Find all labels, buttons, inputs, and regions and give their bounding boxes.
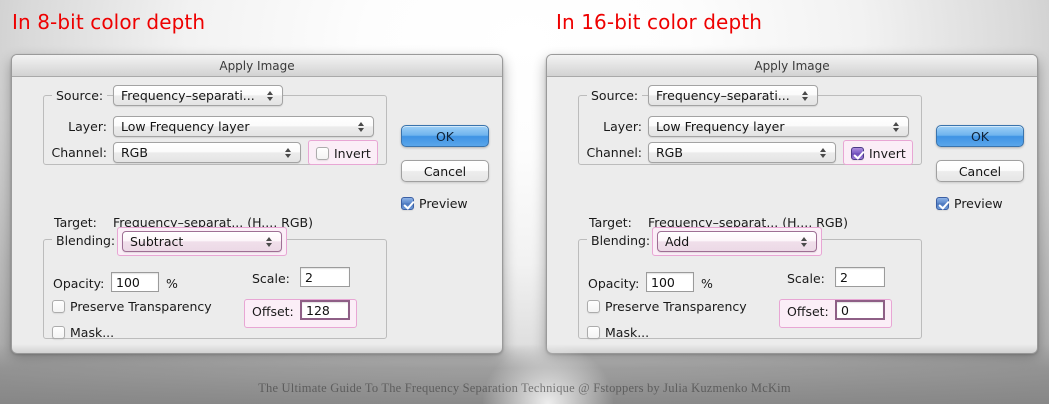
blending-dropdown[interactable]: Subtract bbox=[122, 231, 282, 252]
cancel-button-label: Cancel bbox=[424, 164, 466, 179]
chevron-updown-icon bbox=[353, 122, 369, 132]
apply-image-dialog-16bit: Apply Image Source: Frequency–separati..… bbox=[546, 54, 1038, 354]
cancel-button[interactable]: Cancel bbox=[936, 160, 1024, 182]
scale-label: Scale: bbox=[252, 271, 290, 286]
invert-checkbox[interactable] bbox=[316, 147, 329, 160]
source-label: Source: bbox=[52, 88, 107, 103]
mask-checkbox[interactable] bbox=[52, 326, 65, 339]
channel-dropdown-value: RGB bbox=[114, 145, 280, 160]
preserve-transparency-checkbox[interactable] bbox=[52, 300, 65, 313]
layer-label: Layer: bbox=[567, 119, 642, 134]
opacity-input[interactable]: 100 bbox=[111, 272, 159, 292]
invert-label: Invert bbox=[334, 146, 371, 161]
percent-sign: % bbox=[701, 276, 713, 291]
target-label: Target: bbox=[54, 215, 97, 230]
mask-label: Mask... bbox=[605, 325, 649, 340]
mask-checkbox[interactable] bbox=[587, 326, 600, 339]
source-dropdown[interactable]: Frequency–separati... bbox=[648, 85, 818, 106]
preserve-transparency-checkbox-row[interactable]: Preserve Transparency bbox=[587, 299, 747, 314]
layer-dropdown-value: Low Frequency layer bbox=[649, 119, 888, 134]
opacity-input[interactable]: 100 bbox=[646, 272, 694, 292]
dialog-titlebar: Apply Image bbox=[547, 55, 1037, 77]
preserve-transparency-label: Preserve Transparency bbox=[605, 299, 747, 314]
preserve-transparency-checkbox-row[interactable]: Preserve Transparency bbox=[52, 299, 212, 314]
source-dropdown-value: Frequency–separati... bbox=[114, 88, 262, 103]
source-label: Source: bbox=[587, 88, 642, 103]
chevron-updown-icon bbox=[280, 148, 296, 158]
opacity-input-value: 100 bbox=[116, 275, 140, 290]
chevron-updown-icon bbox=[888, 122, 904, 132]
source-dropdown[interactable]: Frequency–separati... bbox=[113, 85, 283, 106]
cancel-button-label: Cancel bbox=[959, 164, 1001, 179]
blending-label: Blending: bbox=[587, 233, 654, 248]
percent-sign: % bbox=[166, 276, 178, 291]
offset-label: Offset: bbox=[787, 304, 829, 319]
dialog-body: Source: Frequency–separati... Layer: Low… bbox=[547, 77, 1037, 354]
chevron-updown-icon bbox=[815, 148, 831, 158]
ok-button-label: OK bbox=[971, 129, 989, 144]
opacity-label: Opacity: bbox=[588, 276, 639, 291]
preserve-transparency-checkbox[interactable] bbox=[587, 300, 600, 313]
channel-dropdown[interactable]: RGB bbox=[113, 142, 301, 163]
dialog-title: Apply Image bbox=[754, 59, 829, 73]
chevron-updown-icon bbox=[262, 91, 278, 101]
offset-input[interactable]: 128 bbox=[300, 300, 350, 320]
offset-input-value: 128 bbox=[306, 303, 330, 318]
preview-checkbox[interactable] bbox=[936, 197, 949, 210]
scale-input-value: 2 bbox=[305, 270, 313, 285]
chevron-updown-icon bbox=[796, 237, 812, 247]
layer-dropdown-value: Low Frequency layer bbox=[114, 119, 353, 134]
caption: The Ultimate Guide To The Frequency Sepa… bbox=[0, 381, 1049, 396]
preview-label: Preview bbox=[419, 196, 468, 211]
target-label: Target: bbox=[589, 215, 632, 230]
blending-dropdown[interactable]: Add bbox=[657, 231, 817, 252]
mask-label: Mask... bbox=[70, 325, 114, 340]
channel-label: Channel: bbox=[32, 145, 107, 160]
invert-label: Invert bbox=[869, 146, 906, 161]
scale-input[interactable]: 2 bbox=[835, 267, 885, 287]
dialog-title: Apply Image bbox=[219, 59, 294, 73]
channel-label: Channel: bbox=[567, 145, 642, 160]
preview-checkbox-row[interactable]: Preview bbox=[401, 196, 468, 211]
scale-label: Scale: bbox=[787, 271, 825, 286]
preview-label: Preview bbox=[954, 196, 1003, 211]
ok-button[interactable]: OK bbox=[401, 125, 489, 147]
chevron-updown-icon bbox=[261, 237, 277, 247]
heading-16bit: In 16-bit color depth bbox=[556, 10, 762, 34]
layer-dropdown[interactable]: Low Frequency layer bbox=[648, 116, 909, 137]
layer-label: Layer: bbox=[32, 119, 107, 134]
dialog-titlebar: Apply Image bbox=[12, 55, 502, 77]
invert-checkbox[interactable] bbox=[851, 147, 864, 160]
scale-input-value: 2 bbox=[840, 270, 848, 285]
preview-checkbox-row[interactable]: Preview bbox=[936, 196, 1003, 211]
source-dropdown-value: Frequency–separati... bbox=[649, 88, 797, 103]
channel-dropdown[interactable]: RGB bbox=[648, 142, 836, 163]
offset-input-value: 0 bbox=[841, 303, 849, 318]
mask-checkbox-row[interactable]: Mask... bbox=[587, 325, 649, 340]
ok-button[interactable]: OK bbox=[936, 125, 1024, 147]
preview-checkbox[interactable] bbox=[401, 197, 414, 210]
apply-image-dialog-8bit: Apply Image Source: Frequency–separati..… bbox=[11, 54, 503, 354]
blending-label: Blending: bbox=[52, 233, 119, 248]
layer-dropdown[interactable]: Low Frequency layer bbox=[113, 116, 374, 137]
blending-dropdown-value: Add bbox=[658, 234, 796, 249]
preserve-transparency-label: Preserve Transparency bbox=[70, 299, 212, 314]
offset-label: Offset: bbox=[252, 304, 294, 319]
cancel-button[interactable]: Cancel bbox=[401, 160, 489, 182]
scale-input[interactable]: 2 bbox=[300, 267, 350, 287]
blending-dropdown-value: Subtract bbox=[123, 234, 261, 249]
dialog-body: Source: Frequency–separati... Layer: Low… bbox=[12, 77, 502, 354]
opacity-label: Opacity: bbox=[53, 276, 104, 291]
opacity-input-value: 100 bbox=[651, 275, 675, 290]
offset-input[interactable]: 0 bbox=[835, 300, 885, 320]
invert-checkbox-row[interactable]: Invert bbox=[851, 146, 906, 161]
channel-dropdown-value: RGB bbox=[649, 145, 815, 160]
ok-button-label: OK bbox=[436, 129, 454, 144]
chevron-updown-icon bbox=[797, 91, 813, 101]
heading-8bit: In 8-bit color depth bbox=[12, 10, 205, 34]
mask-checkbox-row[interactable]: Mask... bbox=[52, 325, 114, 340]
invert-checkbox-row[interactable]: Invert bbox=[316, 146, 371, 161]
